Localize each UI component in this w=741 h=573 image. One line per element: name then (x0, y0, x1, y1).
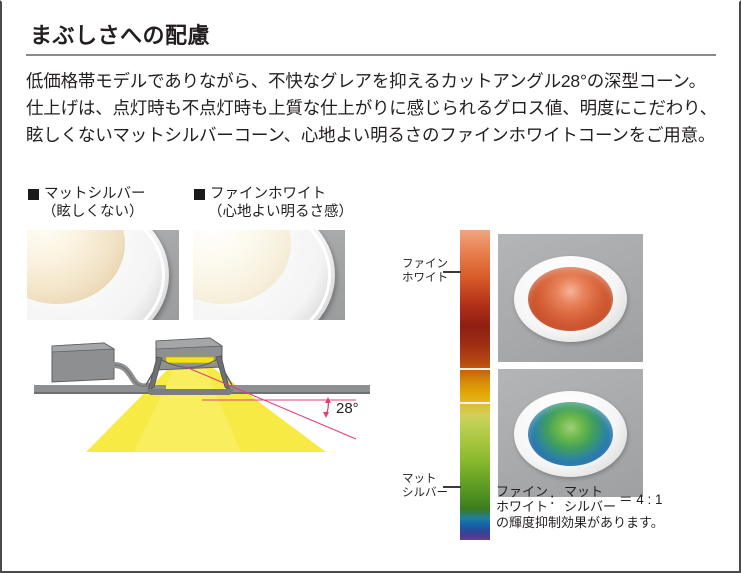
luminance-highlight (528, 267, 613, 331)
caption-matte-silver-title: マットシルバー (44, 185, 146, 203)
body-copy: 低価格帯モデルでありながら、不快なグレアを抑えるカットアングル28°の深型コーン… (26, 68, 726, 149)
scale-tick-upper (460, 368, 490, 370)
caption-matte-silver-sub: （眩しくない） (28, 203, 146, 222)
photo-matte-silver-cone (27, 230, 179, 320)
product-spec-page: まぶしさへの配慮 低価格帯モデルでありながら、不快なグレアを抑えるカットアングル… (0, 0, 741, 573)
square-bullet-icon (28, 189, 39, 200)
leader-line-top (443, 271, 461, 273)
scale-label-matte-silver-l2: シルバー (402, 486, 448, 500)
ratio-denominator-2: シルバー (564, 499, 616, 514)
trim-ring (514, 256, 627, 342)
body-line-3: 眩しくないマットシルバーコーン、心地よい明るさのファインホワイトコーンをご用意。 (26, 122, 726, 149)
scale-label-fine-white: ファイン ホワイト (402, 257, 448, 285)
scale-label-fine-white-l2: ホワイト (402, 271, 448, 285)
trim-ring (514, 391, 627, 477)
ratio-numerator-2: ホワイト (496, 499, 548, 514)
page-title: まぶしさへの配慮 (30, 18, 210, 50)
swatch-captions: マットシルバー （眩しくない） ファインホワイト （心地よい明るさ感） (26, 185, 376, 223)
caption-fine-white-title: ファインホワイト (210, 185, 326, 203)
scale-tick-mid (460, 402, 490, 404)
luminance-photo-matte-silver (498, 369, 643, 497)
luminance-field (528, 267, 613, 331)
angle-label: 28° (336, 400, 359, 417)
caption-fine-white-sub: （心地よい明るさ感） (194, 203, 353, 222)
led-emitter (166, 357, 214, 363)
ratio-denominator: マット (564, 484, 616, 499)
ratio-caption: ファイン ホワイト ： マット シルバー ＝ 4 : 1 の輝度抑制効果がありま… (496, 484, 736, 531)
trim-flange (146, 389, 234, 395)
luminance-field (528, 402, 613, 466)
photo-fine-white-cone (193, 230, 345, 320)
cutaway-section-diagram: 28° (26, 327, 378, 452)
ratio-numerator: ファイン (496, 484, 548, 499)
caption-matte-silver: マットシルバー （眩しくない） (28, 185, 146, 222)
ceiling-slab-right (226, 385, 370, 392)
title-divider (26, 54, 716, 56)
luminance-highlight (528, 402, 613, 466)
ratio-effect-text: の輝度抑制効果があります。 (496, 514, 736, 531)
body-line-2: 仕上げは、点灯時も不点灯時も上質な仕上がりに感じられるグロス値、明度にこだわり、 (26, 95, 726, 122)
leader-line-bottom (443, 486, 461, 488)
rim-highlight (193, 230, 331, 320)
caption-fine-white: ファインホワイト （心地よい明るさ感） (194, 185, 353, 222)
scale-label-fine-white-l1: ファイン (402, 257, 448, 271)
rim-highlight (27, 230, 165, 320)
luminance-photo-fine-white (498, 234, 643, 362)
ratio-row: ファイン ホワイト ： マット シルバー ＝ 4 : 1 (496, 484, 736, 514)
scale-label-matte-silver: マット シルバー (402, 472, 448, 500)
body-line-1: 低価格帯モデルでありながら、不快なグレアを抑えるカットアングル28°の深型コーン… (26, 68, 726, 95)
scale-label-matte-silver-l1: マット (402, 472, 448, 486)
luminance-scale-bar (460, 230, 490, 540)
ratio-equals: ＝ 4 : 1 (619, 491, 663, 508)
ratio-colon: ： (549, 491, 562, 508)
square-bullet-icon (194, 189, 205, 200)
